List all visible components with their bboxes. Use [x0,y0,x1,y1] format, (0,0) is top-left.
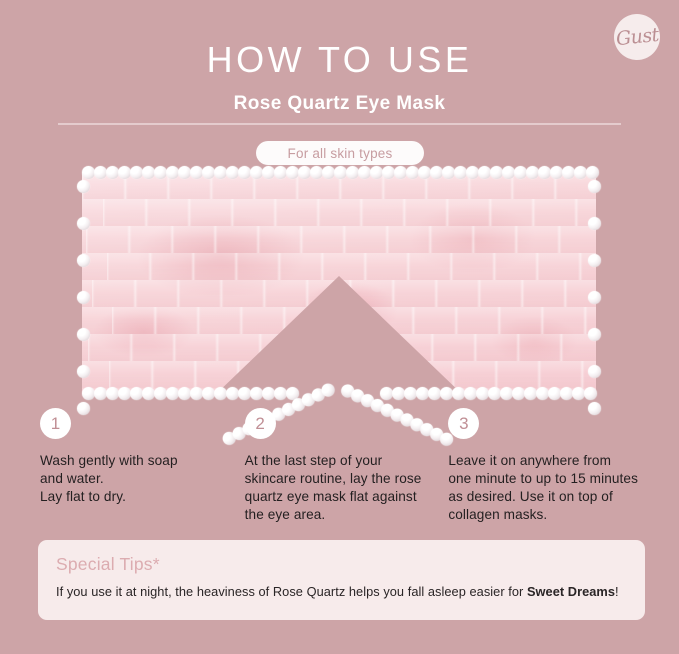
bead-icon [359,392,376,409]
status-badge-skin-type: For all skin types [256,141,424,165]
special-tips-body-emphasis: Sweet Dreams [527,584,615,599]
quartz-tile-row [82,226,596,253]
step-description: Leave it on anywhere from one minute to … [448,452,648,524]
instruction-step: 3 Leave it on anywhere from one minute t… [445,408,648,524]
mask-tiled-surface [82,172,596,394]
page-title: HOW TO USE [0,40,679,80]
product-image-rose-quartz-eye-mask [82,172,596,394]
instruction-steps: 1 Wash gently with soap and water. Lay f… [40,408,648,524]
instruction-step: 2 At the last step of your skincare rout… [243,408,446,524]
quartz-tile-row [82,172,596,199]
special-tips-panel: Special Tips* If you use it at night, th… [38,540,645,620]
step-number-badge: 3 [448,408,479,439]
step-number-badge: 2 [245,408,276,439]
step-description: At the last step of your skincare routin… [245,452,446,524]
special-tips-body-prefix: If you use it at night, the heaviness of… [56,584,527,599]
step-description: Wash gently with soap and water. Lay fla… [40,452,243,506]
header-divider [58,123,621,125]
quartz-tile-row [82,253,596,280]
instruction-step: 1 Wash gently with soap and water. Lay f… [40,408,243,524]
quartz-tile-row [82,199,596,226]
special-tips-heading: Special Tips* [56,554,627,575]
special-tips-body-suffix: ! [615,584,619,599]
page-subtitle: Rose Quartz Eye Mask [0,93,679,115]
step-number-badge: 1 [40,408,71,439]
special-tips-body: If you use it at night, the heaviness of… [56,584,627,599]
skin-type-label: For all skin types [288,146,393,161]
header: HOW TO USE Rose Quartz Eye Mask [0,40,679,115]
